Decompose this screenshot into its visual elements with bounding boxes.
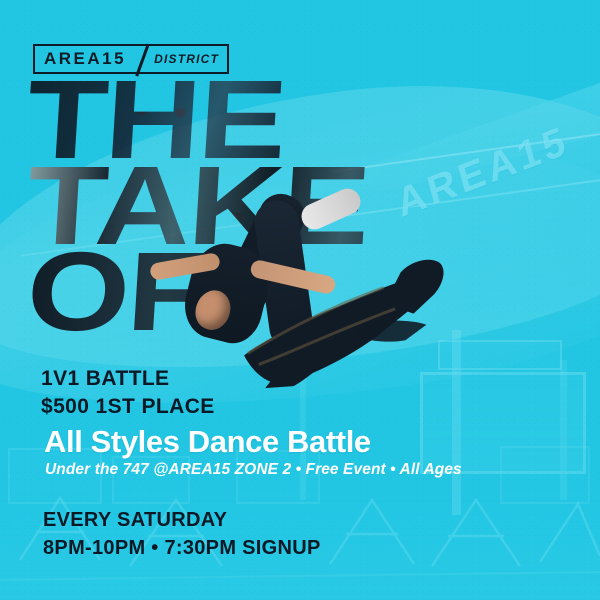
logo-slash-icon [134,46,150,72]
battle-info: 1V1 BATTLE $500 1ST PLACE [41,365,215,420]
event-headline: All Styles Dance Battle [44,424,371,460]
area15-district-logo[interactable]: AREA15 DISTRICT [33,44,229,74]
event-poster: AREA15 [0,0,600,600]
logo-sublabel-text: DISTRICT [150,46,227,72]
schedule-day: EVERY SATURDAY [43,507,321,535]
airplane-silhouette-icon [232,254,470,390]
logo-brand-text: AREA15 [35,46,134,72]
event-subtitle: Under the 747 @AREA15 ZONE 2 • Free Even… [45,461,462,479]
schedule-time: 8PM-10PM • 7:30PM SIGNUP [43,535,321,563]
battle-prize: $500 1ST PLACE [41,393,215,421]
schedule-info: EVERY SATURDAY 8PM-10PM • 7:30PM SIGNUP [43,507,321,562]
battle-format: 1V1 BATTLE [41,365,215,393]
